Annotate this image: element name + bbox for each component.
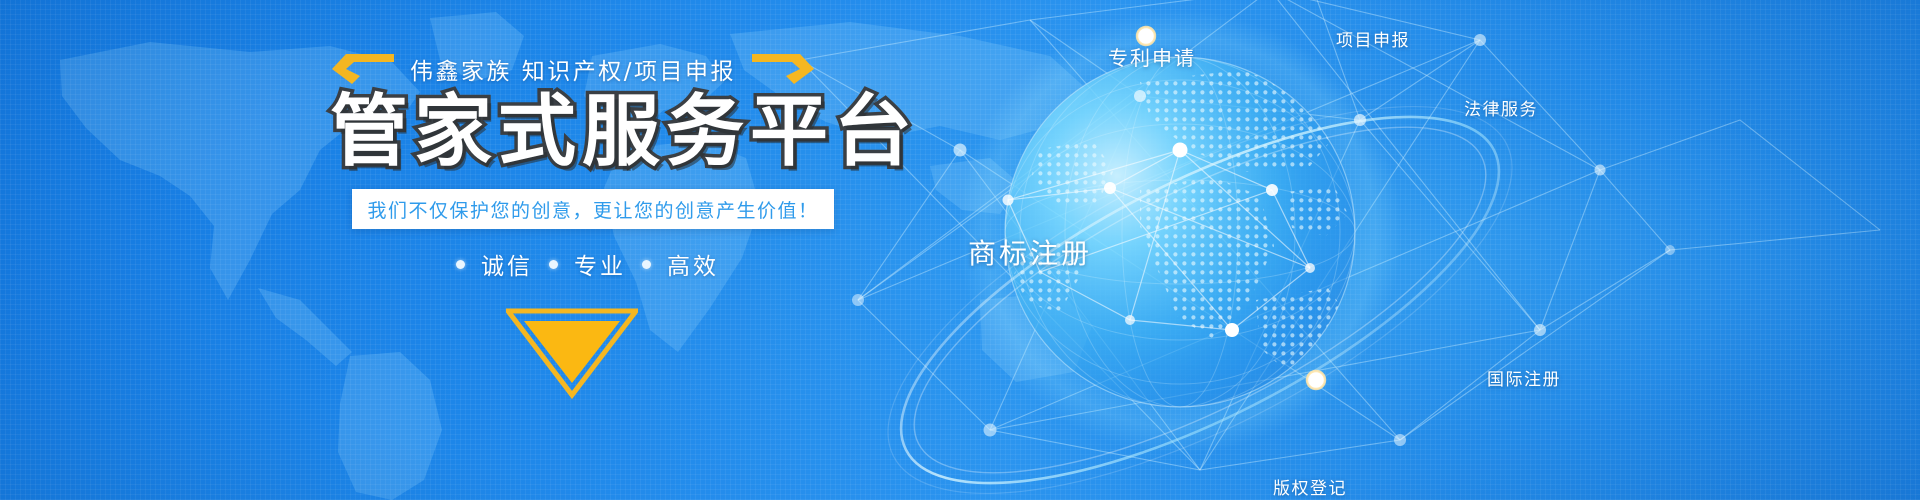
service-label-legal[interactable]: 法律服务	[1464, 95, 1538, 120]
value-item-efficient: 高效	[667, 247, 719, 281]
bullet-dot-icon	[549, 260, 558, 269]
value-item-integrity: 诚信	[481, 247, 533, 281]
bullet-dot-icon	[642, 260, 651, 269]
service-label-copyright[interactable]: 版权登记	[1273, 474, 1347, 499]
value-list: 诚信 专业 高效	[440, 247, 990, 281]
subtitle-text: 我们不仅保护您的创意，更让您的创意产生价值！	[367, 196, 818, 223]
chevron-right-icon	[750, 52, 816, 86]
banner-content: 伟鑫家族 知识产权/项目申报 管家式服务平台 我们不仅保护您的创意，更让您的创意…	[330, 48, 990, 399]
hero-banner: 专利申请 项目申报 法律服务 商标注册 国际注册 版权登记 伟鑫家族 知识产权/…	[0, 0, 1920, 500]
subtitle-bar: 我们不仅保护您的创意，更让您的创意产生价值！	[352, 189, 834, 229]
service-label-international[interactable]: 国际注册	[1487, 365, 1561, 390]
kicker-row: 伟鑫家族 知识产权/项目申报	[330, 48, 990, 90]
service-label-project[interactable]: 项目申报	[1336, 26, 1410, 51]
brand-kicker: 伟鑫家族 知识产权/项目申报	[410, 52, 736, 86]
service-label-patent[interactable]: 专利申请	[1108, 42, 1196, 71]
page-title: 管家式服务平台	[330, 92, 990, 173]
chevron-left-icon	[330, 52, 396, 86]
triangle-down-icon	[506, 307, 638, 399]
bullet-dot-icon	[456, 260, 465, 269]
value-item-professional: 专业	[574, 247, 626, 281]
